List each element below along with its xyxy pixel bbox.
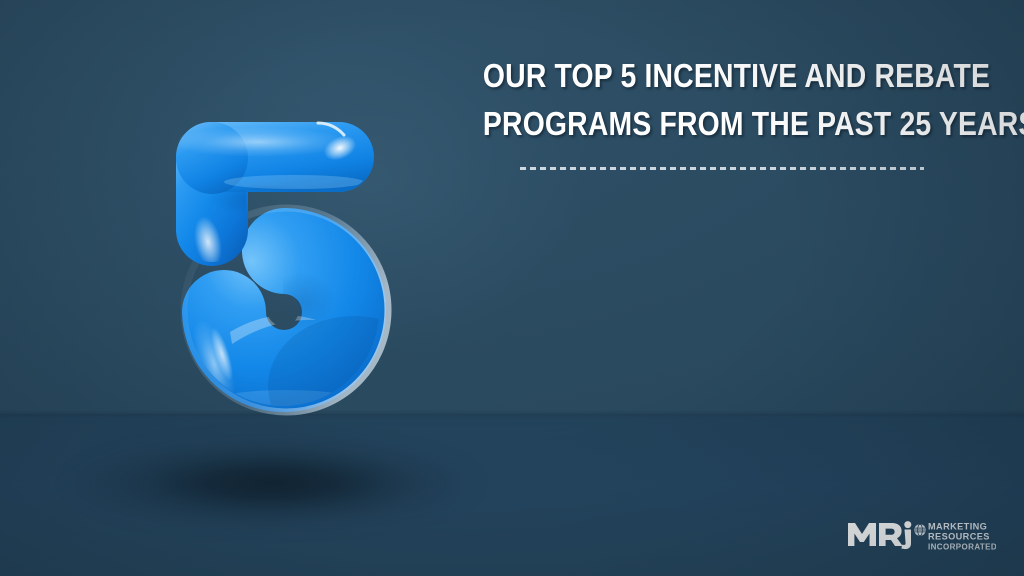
logo-tagline-line-3: INCORPORATED — [928, 543, 996, 552]
logo-tagline: MARKETING RESOURCES INCORPORATED — [928, 522, 996, 552]
numeral-five-graphic — [118, 96, 418, 456]
slide-canvas: OUR TOP 5 INCENTIVE AND REBATE PROGRAMS … — [0, 0, 1024, 576]
headline-line-2: PROGRAMS FROM THE PAST 25 YEARS — [483, 100, 961, 148]
headline-block: OUR TOP 5 INCENTIVE AND REBATE PROGRAMS … — [444, 52, 1000, 170]
logo-tagline-line-2: RESOURCES — [928, 532, 990, 542]
globe-icon — [914, 524, 926, 536]
logo-tagline-line-1: MARKETING — [928, 522, 987, 532]
mri-logo[interactable]: MARKETING RESOURCES INCORPORATED — [846, 516, 996, 556]
logo-wordmark — [848, 521, 911, 549]
headline-line-1: OUR TOP 5 INCENTIVE AND REBATE — [483, 52, 961, 100]
dashed-divider — [520, 167, 924, 170]
